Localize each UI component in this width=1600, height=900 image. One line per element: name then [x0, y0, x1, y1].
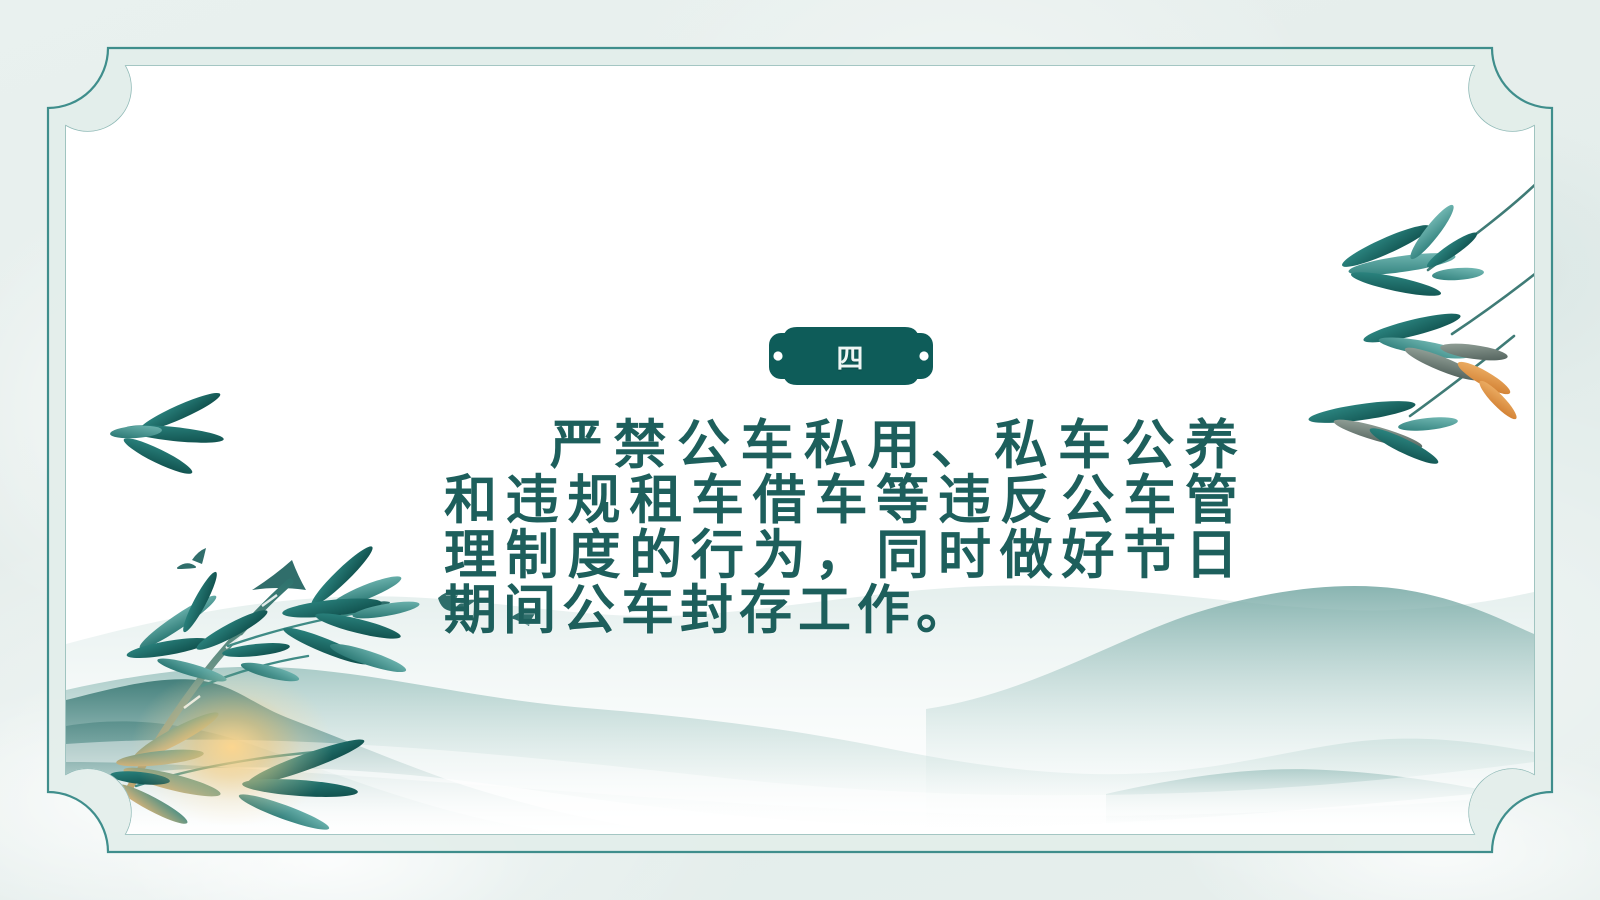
- section-badge-label: 四: [763, 327, 939, 385]
- section-badge: 四: [763, 327, 939, 385]
- body-paragraph: 严禁公车私用、私车公养和违规租车借车等违反公车管理制度的行为，同时做好节日期间公…: [444, 418, 1244, 638]
- bamboo-branch-icon: [1214, 166, 1534, 466]
- bamboo-branch-icon: [76, 356, 436, 826]
- slide-canvas: 四 严禁公车私用、私车公养和违规租车借车等违反公车管理制度的行为，同时做好节日期…: [0, 0, 1600, 900]
- content-paper: 四 严禁公车私用、私车公养和违规租车借车等违反公车管理制度的行为，同时做好节日期…: [66, 66, 1534, 834]
